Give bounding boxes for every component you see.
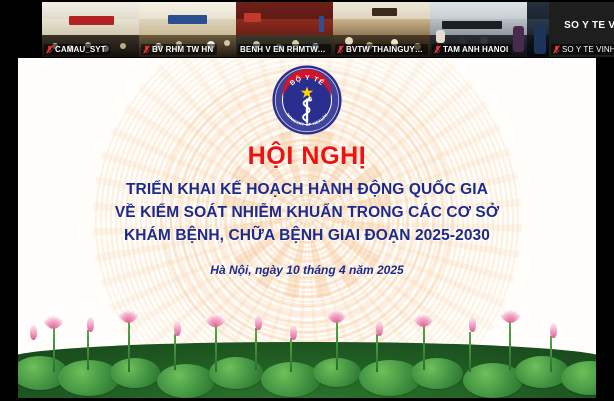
participant-thumbnail-strip[interactable]: CAMAU_SYT BV RHM TW HN [0,0,614,58]
participant-thumbnail-tam-anh-hanoi[interactable]: TAM ANH HANOI [430,2,527,57]
participant-thumbnail-benh-vien-rhmtw-tph[interactable]: BENH V EN RHMTW.TPH… [236,2,333,57]
participant-thumbnail-so-y-te-vinh-phuc-video[interactable] [527,2,549,57]
slide-main-heading: HỘI NGHỊ [18,142,596,171]
participant-name: CAMAU_SYT [55,45,106,54]
thumbnail-label: BENH V EN RHMTW.TPH… [238,44,331,55]
participant-name: SO Y TE VINH PHUC-… [562,45,614,54]
slide-date-line: Hà Nội, ngày 10 tháng 4 năm 2025 [18,263,596,277]
thumbnail-label: SO Y TE VINH PHUC-… [551,44,614,55]
participant-thumbnail-camau-syt[interactable]: CAMAU_SYT [42,2,139,57]
participant-name: BVTW THAINGUYEN [346,45,424,54]
participant-thumbnail-bv-rhm-tw-hn[interactable]: BV RHM TW HN [139,2,236,57]
slide-text-block: HỘI NGHỊ TRIỂN KHAI KẾ HOẠCH HÀNH ĐỘNG Q… [18,142,596,277]
slide-subtitle-line-2: VỀ KIỂM SOÁT NHIỄM KHUẨN TRONG CÁC CƠ SỞ [18,202,596,225]
slide-subtitle-line-1: TRIỂN KHAI KẾ HOẠCH HÀNH ĐỘNG QUỐC GIA [18,179,596,202]
participant-namecard-so-y-te-vinh-phuc[interactable]: SO Y TE VINH P… SO Y TE VINH PHUC-… [549,2,614,57]
mic-muted-icon [143,45,150,54]
participant-name: BENH V EN RHMTW.TPH… [240,45,327,54]
thumbnail-label: BVTW THAINGUYEN [335,44,428,55]
thumbnail-label: BV RHM TW HN [141,44,217,55]
thumbnail-label: TAM ANH HANOI [432,44,512,55]
shared-presentation-slide: BỘ Y TẾ MINISTRY OF HEALTH HỘI NGHỊ TRIỂ… [18,58,596,398]
participant-name: TAM ANH HANOI [443,45,508,54]
ministry-of-health-logo-icon: BỘ Y TẾ MINISTRY OF HEALTH [271,64,343,136]
participant-thumbnail-bvtw-thainguyen[interactable]: BVTW THAINGUYEN [333,2,430,57]
filmstrip-left-spacer [0,0,42,58]
video-feed [527,2,549,57]
participant-name: BV RHM TW HN [152,45,213,54]
thumbnail-label: CAMAU_SYT [44,44,110,55]
mic-muted-icon [46,45,53,54]
mic-muted-icon [434,45,441,54]
namecard-title: SO Y TE VINH P… [549,20,614,31]
zoom-meeting-window: CAMAU_SYT BV RHM TW HN [0,0,614,401]
lotus-border-decoration [18,302,596,398]
mic-muted-icon [337,45,344,54]
mic-muted-icon [553,45,560,54]
shared-screen-area[interactable]: BỘ Y TẾ MINISTRY OF HEALTH HỘI NGHỊ TRIỂ… [0,58,614,401]
slide-subtitle-line-3: KHÁM BỆNH, CHỮA BỆNH GIAI ĐOẠN 2025-2030 [18,225,596,248]
